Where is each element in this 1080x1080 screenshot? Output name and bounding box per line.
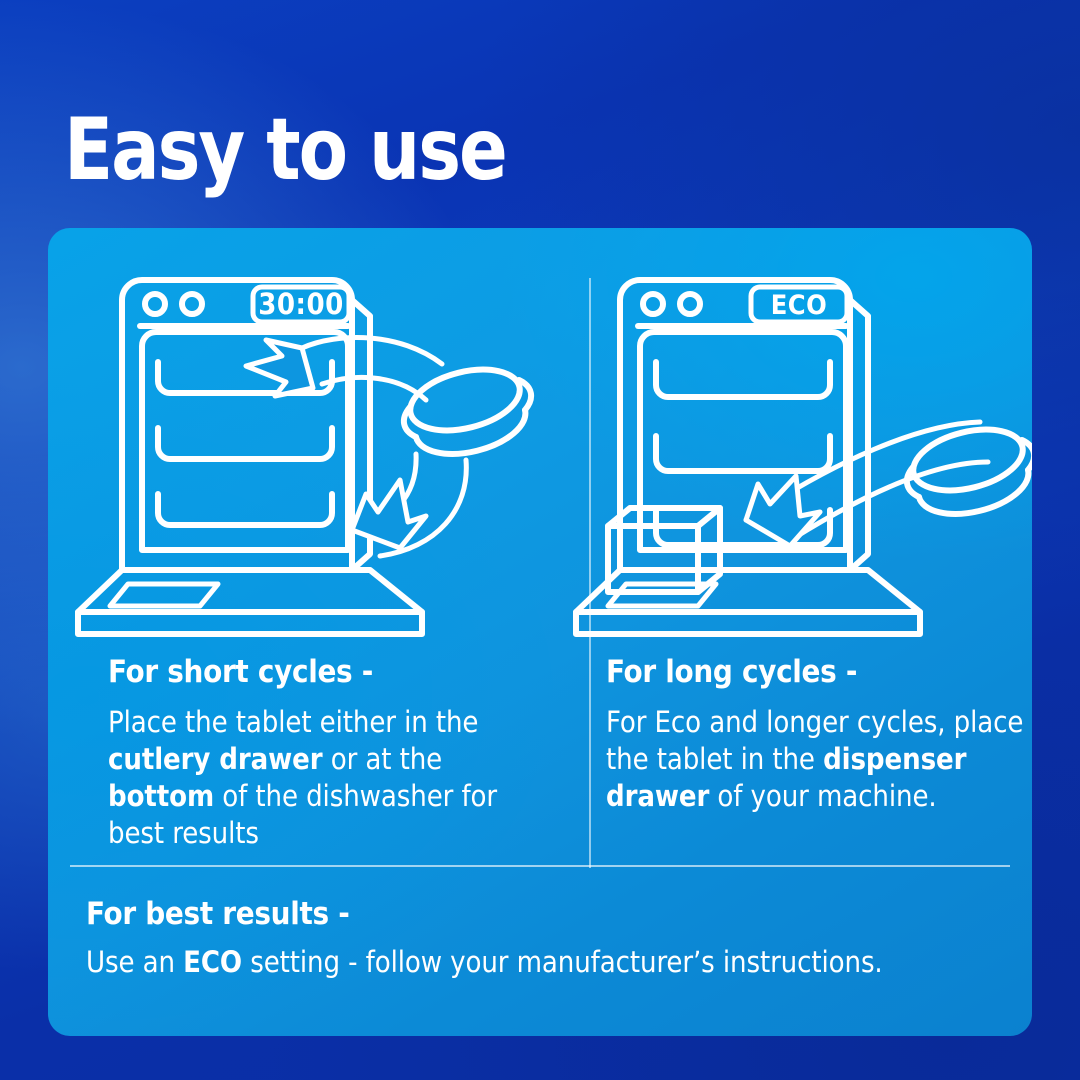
rack-2 <box>158 428 332 459</box>
rack-1 <box>656 362 830 397</box>
dial-circle-2 <box>182 294 202 314</box>
arrow-head <box>746 476 820 546</box>
copy-short-cycles: For short cycles - Place the tablet eith… <box>108 654 528 852</box>
instructions-card: 30:00 For short cycles - Place the table… <box>48 228 1032 1036</box>
copy-long-cycles: For long cycles - For Eco and longer cyc… <box>606 654 1026 815</box>
rack-3 <box>158 494 332 525</box>
tablet <box>404 359 531 454</box>
body-best-results: Use an ECO setting - follow your manufac… <box>86 944 996 981</box>
illustration-dishwasher-short-cycle: 30:00 <box>70 254 540 649</box>
body-short-cycles: Place the tablet either in the cutlery d… <box>108 704 528 852</box>
heading-best-results: For best results - <box>86 896 996 932</box>
rack-2 <box>656 436 830 471</box>
base-front <box>78 612 422 634</box>
arrow-lower-head <box>352 480 426 548</box>
cutlery-tray <box>110 584 218 606</box>
heading-short-cycles: For short cycles - <box>108 654 528 690</box>
dial-circle-1 <box>145 294 165 314</box>
illustration-dishwasher-long-cycle: ECO <box>568 254 1032 649</box>
arrow-upper-curve-b <box>322 377 426 400</box>
display-badge-label: 30:00 <box>253 290 349 319</box>
horizontal-divider <box>70 865 1010 867</box>
page-title: Easy to use <box>64 102 506 198</box>
poster-root: Easy to use <box>0 0 1080 1080</box>
dial-circle-2 <box>680 294 700 314</box>
heading-long-cycles: For long cycles - <box>606 654 1026 690</box>
base-front <box>576 612 920 634</box>
arrow-upper-head <box>246 340 313 396</box>
dial-circle-1 <box>643 294 663 314</box>
panel-short-cycles: 30:00 For short cycles - Place the table… <box>70 254 540 649</box>
panel-best-results: For best results - Use an ECO setting - … <box>86 896 996 981</box>
panel-long-cycles: ECO For long cycles - For Eco and longer… <box>568 254 1032 649</box>
display-badge-label: ECO <box>751 292 847 319</box>
body-long-cycles: For Eco and longer cycles, place the tab… <box>606 704 1026 815</box>
